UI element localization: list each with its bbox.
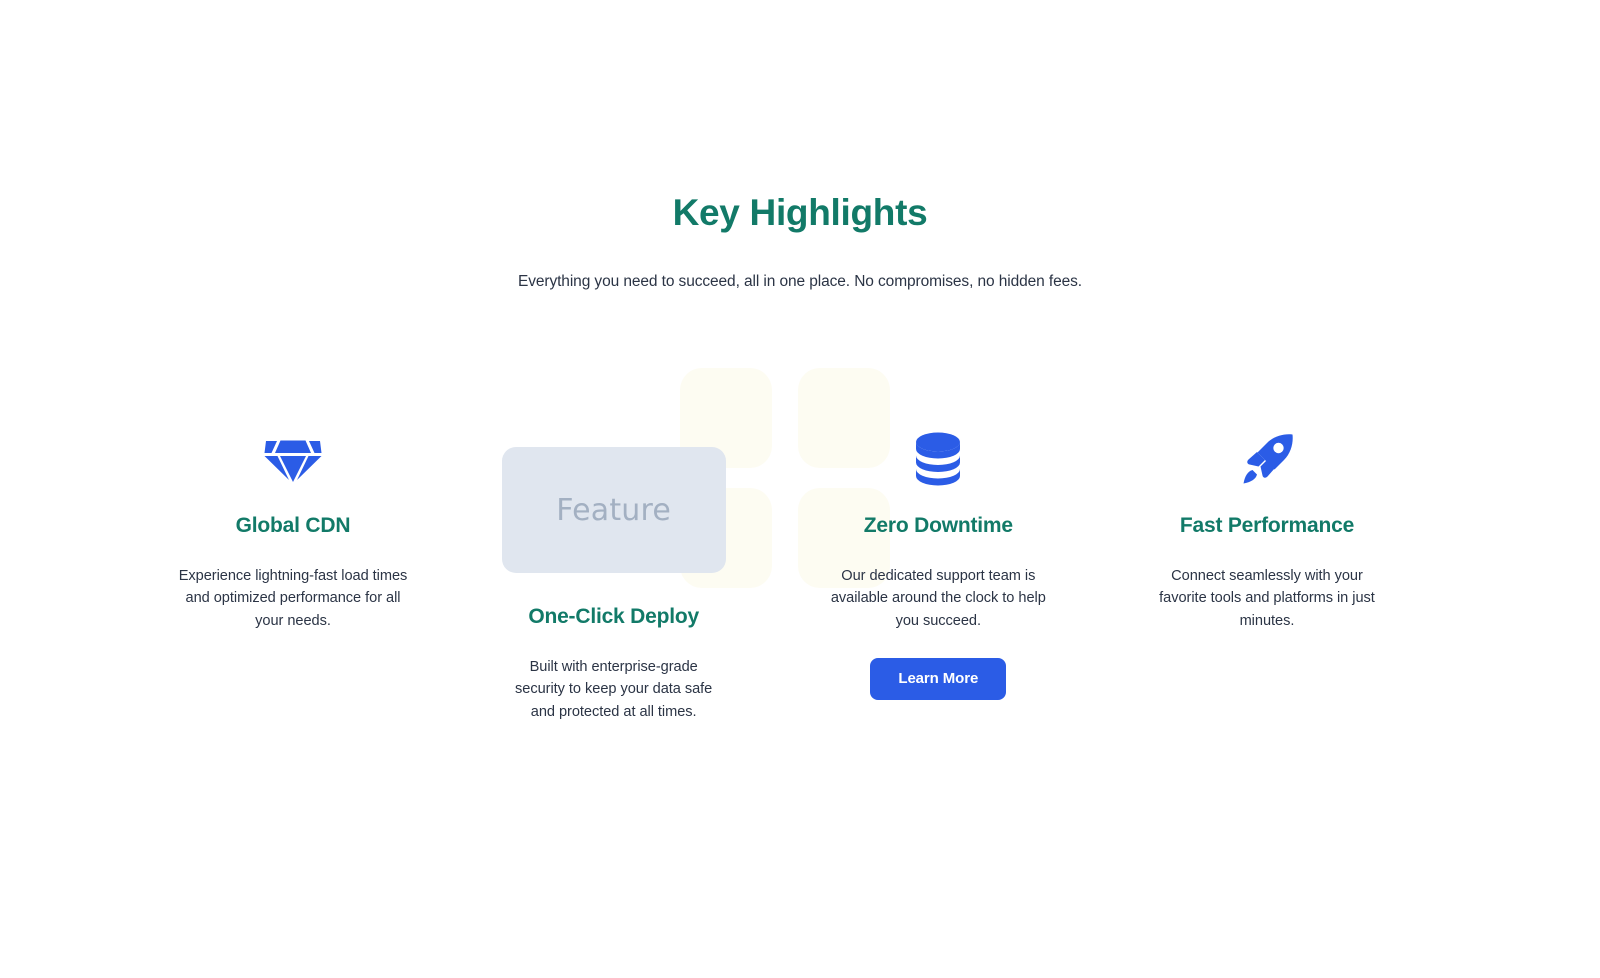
feature-image-placeholder: Feature (502, 447, 726, 573)
page-title: Key Highlights (0, 190, 1600, 235)
feature-card-title: One-Click Deploy (528, 603, 699, 630)
database-icon (914, 430, 962, 488)
feature-card-body: Our dedicated support team is available … (822, 565, 1054, 632)
feature-card-body: Built with enterprise-grade security to … (506, 656, 721, 723)
feature-card-body: Experience lightning-fast load times and… (177, 565, 409, 632)
placeholder-label: Feature (556, 493, 671, 528)
learn-more-button[interactable]: Learn More (870, 658, 1006, 700)
feature-card-body: Connect seamlessly with your favorite to… (1151, 565, 1383, 632)
section-header: Key Highlights Everything you need to su… (0, 190, 1600, 293)
feature-card-list: Global CDN Experience lightning-fast loa… (180, 430, 1420, 723)
feature-card-global-cdn: Global CDN Experience lightning-fast loa… (148, 430, 438, 632)
feature-card-title: Zero Downtime (864, 512, 1013, 539)
feature-card-title: Fast Performance (1180, 512, 1354, 539)
feature-card-one-click-deploy: Feature One-Click Deploy Built with ente… (469, 430, 759, 723)
feature-card-zero-downtime: Zero Downtime Our dedicated support team… (793, 430, 1083, 700)
feature-highlights-page: Key Highlights Everything you need to su… (0, 0, 1600, 978)
feature-card-title: Global CDN (236, 512, 351, 539)
diamond-icon (264, 430, 322, 488)
section-subtitle: Everything you need to succeed, all in o… (0, 270, 1600, 293)
feature-card-fast-performance: Fast Performance Connect seamlessly with… (1122, 430, 1412, 632)
rocket-icon (1240, 430, 1294, 488)
